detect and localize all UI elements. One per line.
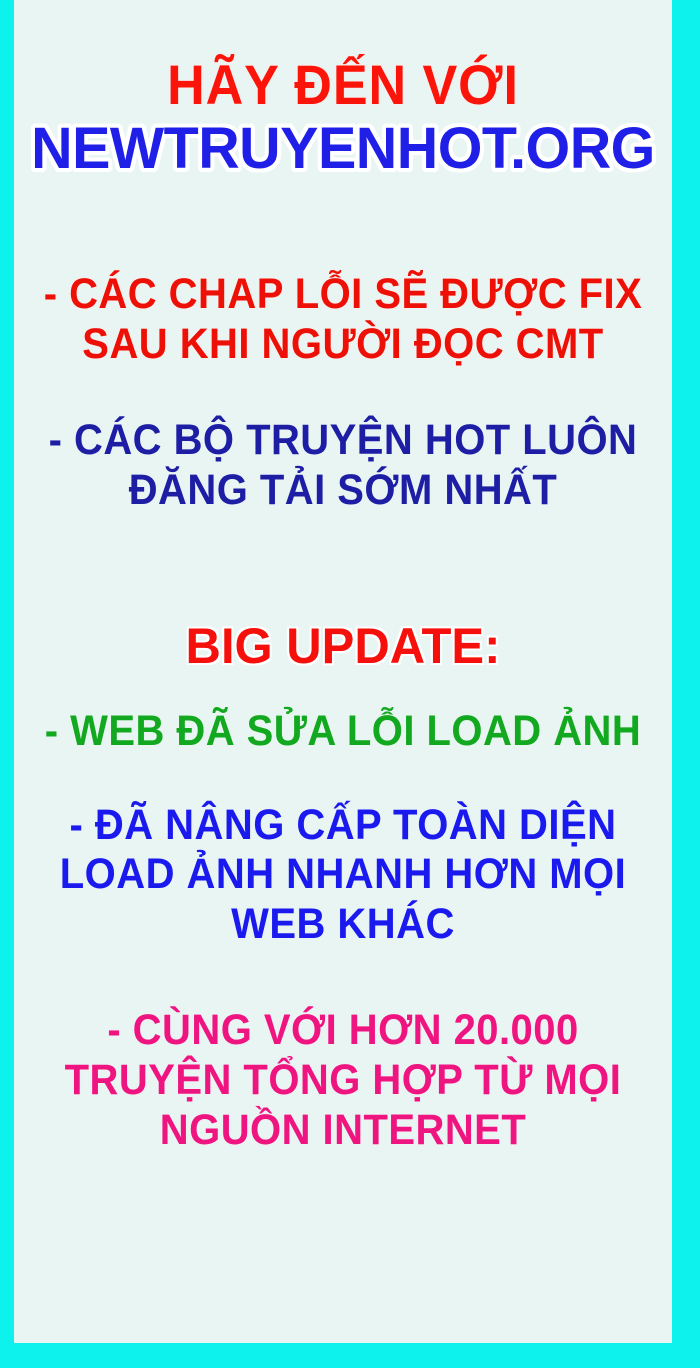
notice-fix-chapters: - CÁC CHAP LỖI SẼ ĐƯỢC FIX SAU KHI NGƯỜI… bbox=[14, 273, 672, 367]
notice-hot-series: - CÁC BỘ TRUYỆN HOT LUÔN ĐĂNG TẢI SỚM NH… bbox=[14, 419, 672, 513]
notice-line: ĐĂNG TẢI SỚM NHẤT bbox=[37, 469, 649, 513]
update-line: - CÙNG VỚI HƠN 20.000 bbox=[37, 1009, 649, 1053]
notice-line: - CÁC BỘ TRUYỆN HOT LUÔN bbox=[37, 419, 649, 463]
update-line: - WEB ĐÃ SỬA LỖI LOAD ẢNH bbox=[37, 710, 649, 754]
update-item-image-load-fixed: - WEB ĐÃ SỬA LỖI LOAD ẢNH bbox=[14, 710, 672, 754]
invite-headline: HÃY ĐẾN VỚI bbox=[37, 56, 649, 113]
update-item-story-count: - CÙNG VỚI HƠN 20.000 TRUYỆN TỔNG HỢP TỪ… bbox=[14, 1009, 672, 1153]
notice-line: SAU KHI NGƯỜI ĐỌC CMT bbox=[37, 323, 649, 367]
update-line: - ĐÃ NÂNG CẤP TOÀN DIỆN bbox=[37, 804, 649, 848]
banner-inner-panel: HÃY ĐẾN VỚI NEWTRUYENHOT.ORG - CÁC CHAP … bbox=[14, 0, 672, 1343]
big-update-section: BIG UPDATE: bbox=[14, 621, 672, 672]
site-domain-text[interactable]: NEWTRUYENHOT.ORG bbox=[17, 119, 668, 178]
update-line: LOAD ẢNH NHANH HƠN MỌI bbox=[37, 853, 649, 897]
notice-line: - CÁC CHAP LỖI SẼ ĐƯỢC FIX bbox=[37, 273, 649, 317]
big-update-heading: BIG UPDATE: bbox=[21, 621, 666, 672]
update-item-full-upgrade: - ĐÃ NÂNG CẤP TOÀN DIỆN LOAD ẢNH NHANH H… bbox=[14, 804, 672, 948]
update-line: WEB KHÁC bbox=[37, 903, 649, 947]
update-line: NGUỒN INTERNET bbox=[37, 1109, 649, 1153]
promo-banner: HÃY ĐẾN VỚI NEWTRUYENHOT.ORG - CÁC CHAP … bbox=[0, 0, 700, 1368]
update-line: TRUYỆN TỔNG HỢP TỪ MỌI bbox=[37, 1059, 649, 1103]
